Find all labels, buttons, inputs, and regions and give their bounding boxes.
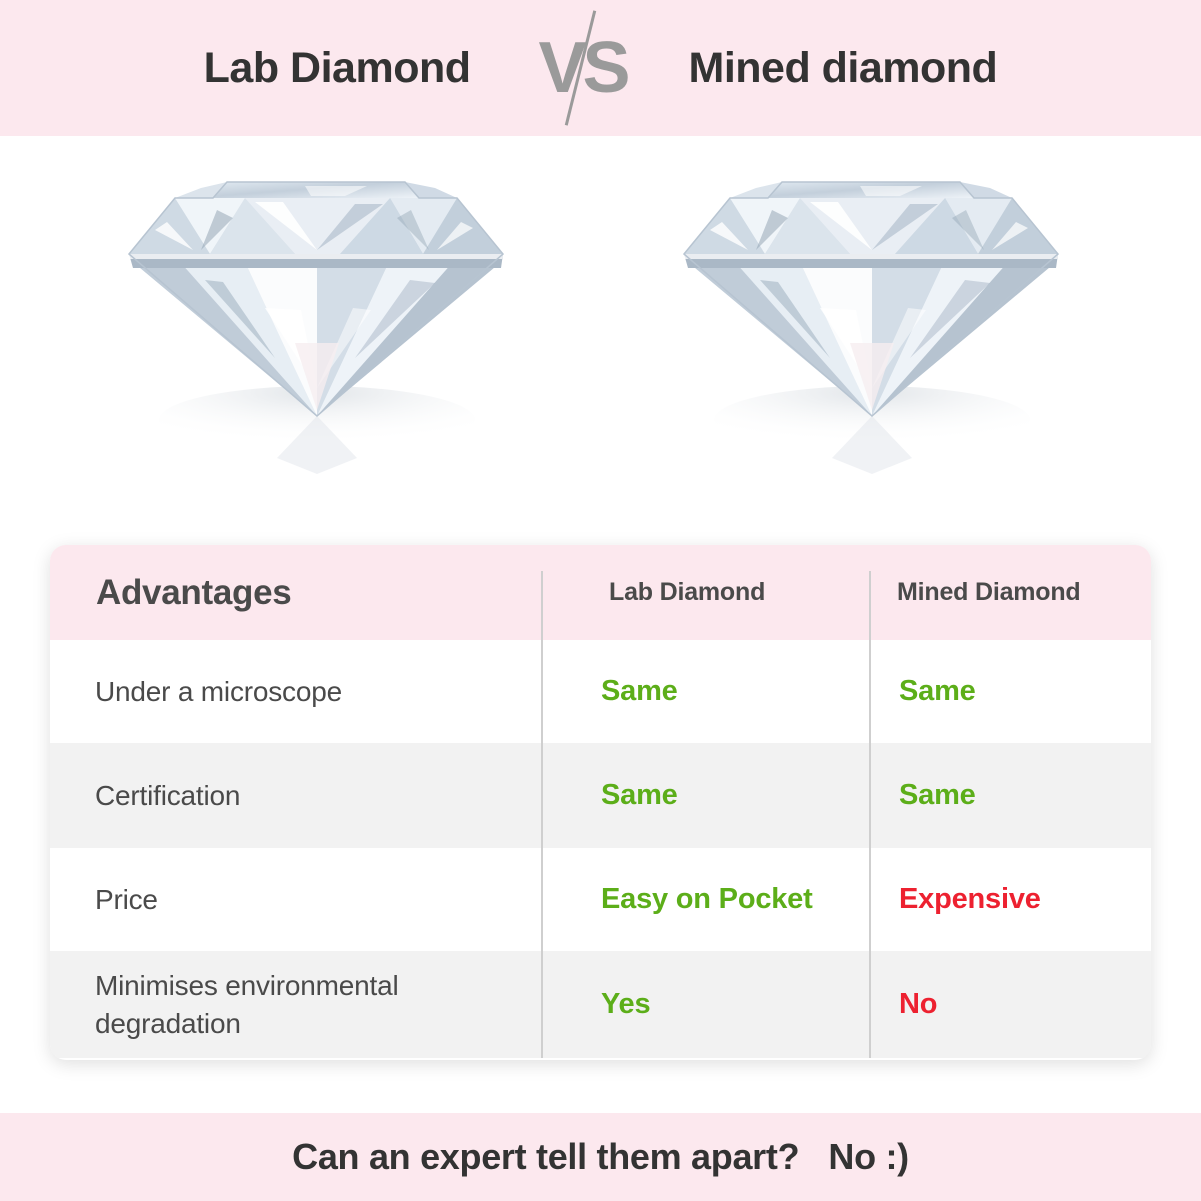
feature-label: Minimises environmental degradation xyxy=(95,970,399,1039)
row-lab-cell: Easy on Pocket xyxy=(541,883,869,916)
column-divider xyxy=(541,571,543,640)
column-divider xyxy=(869,951,871,1058)
lab-value: Same xyxy=(601,675,678,707)
row-feature-cell: Price xyxy=(50,881,541,919)
vs-label: VS xyxy=(535,13,631,123)
header-title-mined-diamond: Mined diamond xyxy=(689,44,998,93)
header-title-lab-diamond: Lab Diamond xyxy=(204,44,471,93)
row-lab-cell: Yes xyxy=(541,988,869,1021)
table-row: Certification Same Same xyxy=(50,743,1151,848)
column-header-label: Advantages xyxy=(96,573,291,612)
lab-value: Yes xyxy=(601,988,650,1020)
lab-value: Easy on Pocket xyxy=(601,883,813,915)
diamond-image-area xyxy=(0,136,1201,536)
column-divider xyxy=(541,951,543,1058)
row-feature-cell: Under a microscope xyxy=(50,673,541,711)
footer-question: Can an expert tell them apart? No :) xyxy=(292,1136,909,1178)
column-divider xyxy=(541,848,543,951)
row-feature-cell: Certification xyxy=(50,777,541,815)
diamond-illustration xyxy=(660,158,1080,478)
column-divider xyxy=(541,640,543,743)
lab-value: Same xyxy=(601,779,678,811)
row-mined-cell: Expensive xyxy=(869,883,1151,916)
feature-label: Under a microscope xyxy=(95,676,342,707)
row-lab-cell: Same xyxy=(541,779,869,812)
mined-value: No xyxy=(899,988,937,1020)
header-band: Lab Diamond VS Mined diamond xyxy=(0,0,1201,136)
feature-label: Price xyxy=(95,884,158,915)
mined-diamond-image xyxy=(660,158,1080,478)
table-row: Minimises environmental degradation Yes … xyxy=(50,951,1151,1058)
diamond-illustration xyxy=(105,158,525,478)
row-feature-cell: Minimises environmental degradation xyxy=(50,967,541,1043)
table-row: Under a microscope Same Same xyxy=(50,640,1151,743)
feature-label: Certification xyxy=(95,780,240,811)
row-mined-cell: No xyxy=(869,988,1151,1021)
mined-value: Same xyxy=(899,779,976,811)
footer-band: Can an expert tell them apart? No :) xyxy=(0,1113,1201,1201)
comparison-table: Advantages Lab Diamond Mined Diamond Und… xyxy=(50,545,1151,1060)
row-mined-cell: Same xyxy=(869,779,1151,812)
column-divider xyxy=(541,743,543,848)
header-cell-mined-diamond: Mined Diamond xyxy=(869,578,1151,607)
column-divider xyxy=(869,571,871,640)
table-row: Price Easy on Pocket Expensive xyxy=(50,848,1151,951)
column-header-label: Mined Diamond xyxy=(897,578,1081,606)
column-divider xyxy=(869,743,871,848)
row-mined-cell: Same xyxy=(869,675,1151,708)
table-header-row: Advantages Lab Diamond Mined Diamond xyxy=(50,545,1151,640)
row-lab-cell: Same xyxy=(541,675,869,708)
header-cell-advantages: Advantages xyxy=(50,573,541,613)
lab-diamond-image xyxy=(105,158,525,478)
column-divider xyxy=(869,640,871,743)
comparison-infographic: Lab Diamond VS Mined diamond xyxy=(0,0,1201,1201)
column-divider xyxy=(869,848,871,951)
vs-badge: VS xyxy=(535,13,631,123)
mined-value: Expensive xyxy=(899,883,1041,915)
column-header-label: Lab Diamond xyxy=(609,578,765,606)
mined-value: Same xyxy=(899,675,976,707)
header-cell-lab-diamond: Lab Diamond xyxy=(541,578,869,607)
